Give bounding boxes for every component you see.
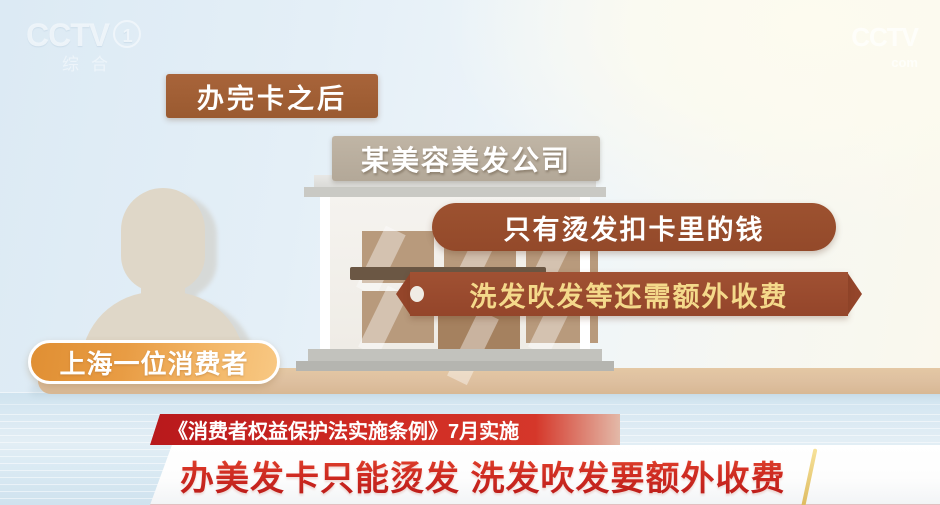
quote-banner-two: 洗发吹发等还需额外收费	[396, 272, 862, 316]
broadcast-frame: 某美容美发公司 办完卡之后 只有烫发扣卡里的钱 洗发吹发等还需额外收费 上海一位…	[0, 0, 940, 505]
building-sign-label: 某美容美发公司	[361, 139, 571, 179]
building-roof-cap	[304, 187, 606, 197]
building-step	[296, 361, 614, 371]
top-caption-label: 办完卡之后	[197, 77, 347, 116]
cctv-channel-number: 1	[113, 20, 141, 48]
lower-third: 《消费者权益保护法实施条例》7月实施 办美发卡只能烫发 洗发吹发要额外收费 晚间…	[0, 414, 940, 505]
building-sign: 某美容美发公司	[332, 136, 600, 181]
watermark-domain: com	[851, 50, 918, 76]
quote-two-label: 洗发吹发等还需额外收费	[470, 275, 789, 314]
top-caption-banner: 办完卡之后	[166, 74, 378, 118]
cctv-logo-wordmark: CCTV1	[26, 18, 176, 52]
building-base	[308, 349, 602, 361]
speaker-label-pill: 上海一位消费者	[28, 340, 280, 384]
lower-third-headline-bar: 办美发卡只能烫发 洗发吹发要额外收费	[150, 445, 940, 505]
cctv-com-watermark: CCTV com	[851, 24, 918, 76]
horizon-line-secondary	[0, 404, 940, 405]
cctv-logo-text: CCTV	[26, 17, 109, 53]
cctv-channel-subtitle: 综合	[62, 50, 176, 75]
lower-third-subtitle-bar: 《消费者权益保护法实施条例》7月实施	[150, 414, 620, 445]
lower-third-subtitle: 《消费者权益保护法实施条例》7月实施	[168, 415, 519, 444]
ribbon-arrow-left-icon	[396, 272, 411, 316]
quote-two-body: 洗发吹发等还需额外收费	[410, 272, 848, 316]
lower-third-headline: 办美发卡只能烫发 洗发吹发要额外收费	[180, 451, 785, 500]
cctv-channel-logo: CCTV1 综合	[26, 18, 176, 74]
ribbon-notch	[410, 286, 424, 302]
quote-one-label: 只有烫发扣卡里的钱	[504, 208, 765, 247]
watermark-wordmark: CCTV	[851, 22, 918, 52]
building-column	[320, 197, 330, 349]
speaker-label-text: 上海一位消费者	[59, 344, 248, 381]
quote-banner-one: 只有烫发扣卡里的钱	[432, 203, 836, 251]
ribbon-arrow-right-icon	[847, 272, 862, 316]
